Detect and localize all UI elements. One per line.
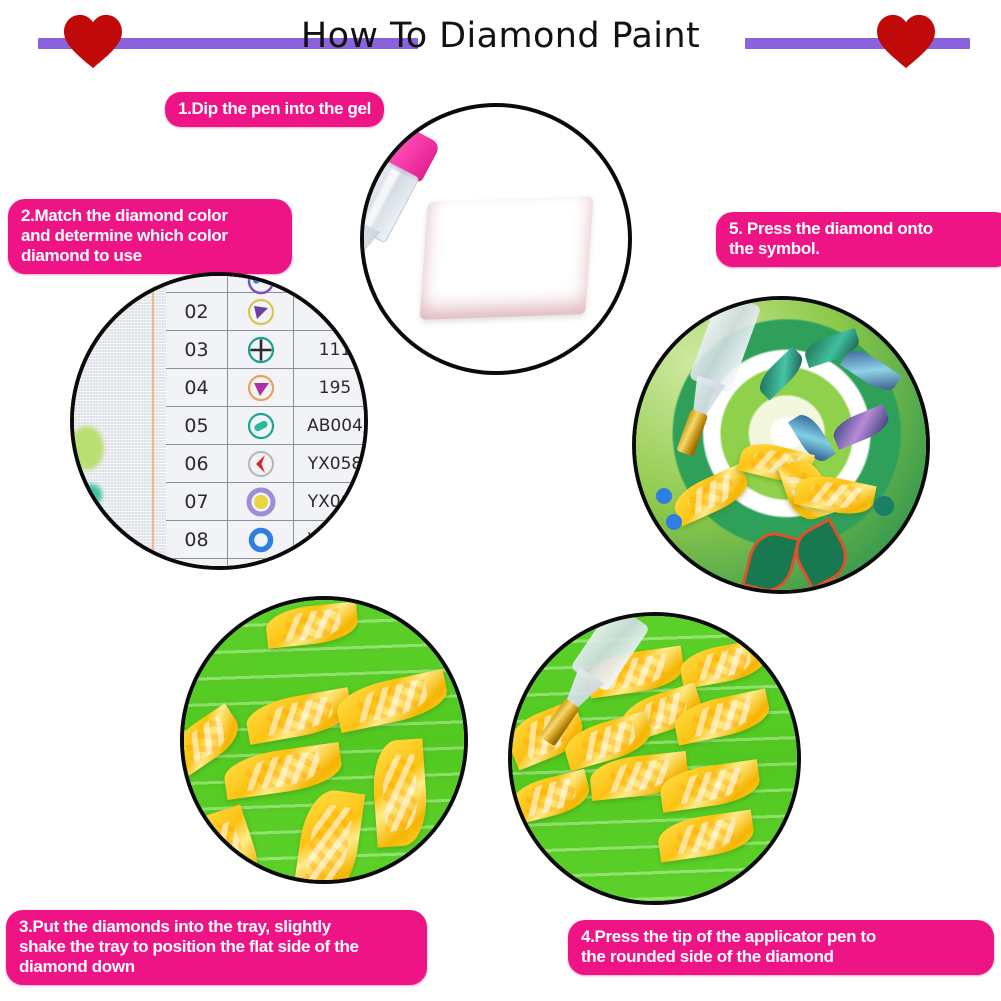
table-row: 03 111 (166, 331, 368, 369)
chart-cell-symbol (228, 559, 294, 570)
chart-cell-code: YX058 (294, 445, 368, 482)
teal-leaf-icon (246, 563, 276, 571)
teal-capsule-icon (246, 411, 276, 441)
table-row: 028 (166, 272, 368, 293)
step-4-label: 4.Press the tip of the applicator pen to… (568, 920, 994, 975)
step-3-line-1: 3.Put the diamonds into the tray, slight… (19, 917, 414, 937)
step-1-label: 1.Dip the pen into the gel (165, 92, 384, 127)
step-2-line-3: diamond to use (21, 246, 279, 266)
chart-cell-code: 028 (294, 272, 368, 292)
yellow-dot-icon (246, 487, 276, 517)
chart-cell-code: YX125 (294, 559, 368, 570)
header: How To Diamond Paint (0, 0, 1001, 82)
chart-cell-symbol (228, 369, 294, 406)
chart-cell-code: 195 (294, 369, 368, 406)
table-row: 09 YX125 (166, 559, 368, 570)
chart-cell-number: 02 (166, 293, 228, 330)
table-row: 06 YX058 (166, 445, 368, 483)
chart-cell-number: 03 (166, 331, 228, 368)
page-title: How To Diamond Paint (0, 16, 1001, 56)
chart-cell-number: 04 (166, 369, 228, 406)
chart-cell-symbol (228, 407, 294, 444)
step-5-line-2: the symbol. (729, 239, 999, 259)
pen-tip (539, 698, 580, 746)
step-2-photo: 028 02 093 03 (70, 272, 368, 570)
printed-symbol (666, 514, 682, 530)
chart-cell-symbol (228, 293, 294, 330)
chart-cell-code: 093 (294, 293, 368, 330)
table-row: 05 AB004 (166, 407, 368, 445)
step-3-line-2: shake the tray to position the flat side… (19, 937, 414, 957)
chart-cell-number: 07 (166, 483, 228, 520)
chart-cell-number: 05 (166, 407, 228, 444)
infographic-root: How To Diamond Paint 1.Dip the pen into … (0, 0, 1001, 1001)
step-3-label: 3.Put the diamonds into the tray, slight… (6, 910, 427, 985)
step-4-line-2: the rounded side of the diamond (581, 947, 981, 967)
step-3-photo (180, 596, 468, 884)
chart-cell-symbol (228, 521, 294, 558)
step-2-line-1: 2.Match the diamond color (21, 206, 279, 226)
chart-cell-symbol (228, 445, 294, 482)
magenta-triangle-icon (246, 373, 276, 403)
printed-symbol (874, 496, 894, 516)
color-chart: 028 02 093 03 (166, 272, 368, 570)
step-5-label: 5. Press the diamond onto the symbol. (716, 212, 1001, 267)
blue-ring-icon (246, 525, 276, 555)
step-5-photo (632, 296, 930, 594)
chart-cell-number: 09 (166, 559, 228, 570)
table-row: 08 YX106 (166, 521, 368, 559)
canvas-print-blob-green (70, 426, 104, 470)
chart-cell-code: AB004 (294, 407, 368, 444)
step-5-line-1: 5. Press the diamond onto (729, 219, 999, 239)
blue-double-dot-icon (246, 272, 276, 296)
plus-cross-icon (246, 335, 276, 365)
gel-pad (420, 196, 594, 320)
step-2-label: 2.Match the diamond color and determine … (8, 199, 292, 274)
chart-cell-number (166, 272, 228, 292)
table-row: 07 YX083 (166, 483, 368, 521)
printed-symbol (656, 488, 672, 504)
chart-cell-symbol (228, 483, 294, 520)
step-2-line-2: and determine which color (21, 226, 279, 246)
canvas-orange-guide-left (152, 276, 154, 566)
chart-cell-symbol (228, 331, 294, 368)
chart-cell-code: YX106 (294, 521, 368, 558)
table-row: 02 093 (166, 293, 368, 331)
step-4-line-1: 4.Press the tip of the applicator pen to (581, 927, 981, 947)
chart-cell-number: 08 (166, 521, 228, 558)
step-1-photo (360, 103, 632, 375)
red-arrow-left-icon (246, 449, 276, 479)
chart-cell-symbol (228, 272, 294, 292)
purple-triangle-icon (246, 297, 276, 327)
step-1-line-1: 1.Dip the pen into the gel (178, 99, 371, 119)
step-3-line-3: diamond down (19, 957, 414, 977)
step-4-photo (508, 612, 801, 905)
chart-cell-code: YX083 (294, 483, 368, 520)
table-row: 04 195 (166, 369, 368, 407)
pen-tip (676, 409, 708, 457)
chart-cell-code: 111 (294, 331, 368, 368)
chart-cell-number: 06 (166, 445, 228, 482)
canvas-print-blob-teal (80, 484, 102, 506)
